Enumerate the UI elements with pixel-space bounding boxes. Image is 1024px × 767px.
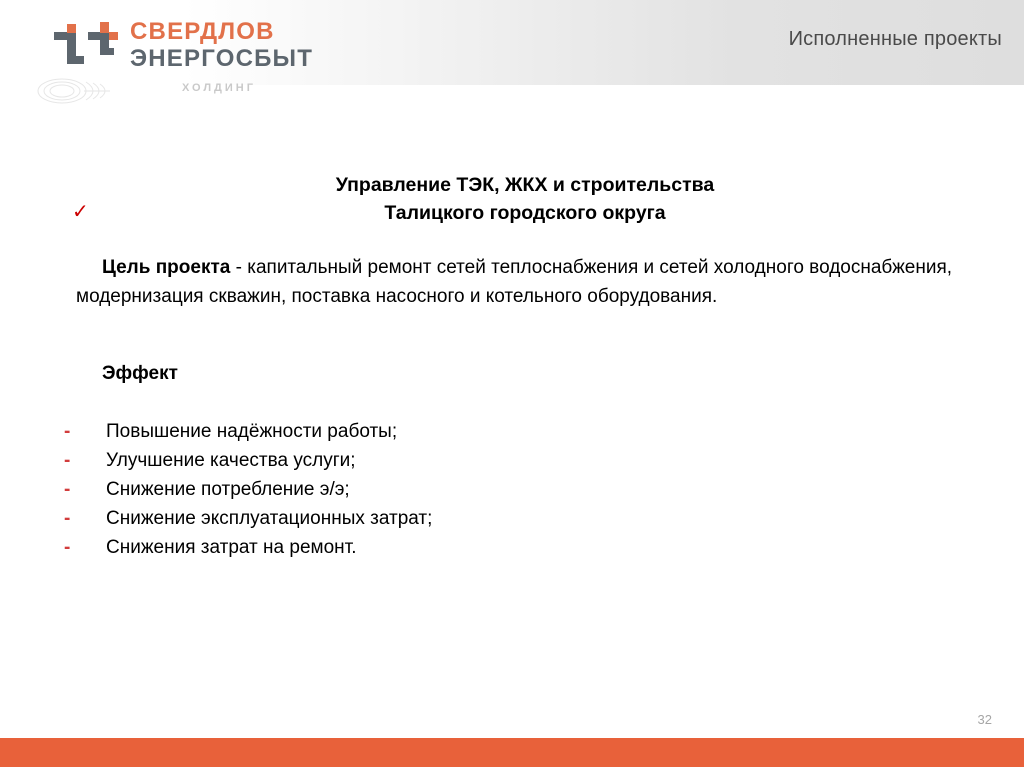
list-item-label: Снижение эксплуатационных затрат; xyxy=(106,508,432,529)
project-goal-label: Цель проекта xyxy=(102,257,230,278)
list-item-label: Снижения затрат на ремонт. xyxy=(106,537,357,558)
faint-watermark-text xyxy=(238,56,308,68)
sverdlov-energosbyt-mark-icon xyxy=(52,20,126,76)
list-dash-icon: - xyxy=(64,505,70,534)
decorative-swirl-icon xyxy=(36,74,122,108)
list-dash-icon: - xyxy=(64,534,70,563)
list-dash-icon: - xyxy=(64,476,70,505)
list-item: - Снижение эксплуатационных затрат; xyxy=(64,505,764,534)
effect-heading: Эффект xyxy=(102,363,178,385)
logo-line-sverdlov: СВЕРДЛОВ xyxy=(130,20,313,44)
list-item-label: Повышение надёжности работы; xyxy=(106,421,397,442)
logo-subtitle-holding: ХОЛДИНГ xyxy=(182,82,256,94)
page-number: 32 xyxy=(978,712,992,727)
company-logo: СВЕРДЛОВ ЭНЕРГОСБЫТ ХОЛДИНГ xyxy=(52,16,352,96)
footer-accent-bar xyxy=(0,738,1024,767)
list-item: - Повышение надёжности работы; xyxy=(64,418,764,447)
page-title: Управление ТЭК, ЖКХ и строительства Тали… xyxy=(0,172,1024,227)
list-item-label: Улучшение качества услуги; xyxy=(106,450,356,471)
page-title-line-1: Управление ТЭК, ЖКХ и строительства xyxy=(26,172,1024,200)
list-item-label: Снижение потребление э/э; xyxy=(106,479,350,500)
list-item: - Улучшение качества услуги; xyxy=(64,447,764,476)
effect-list: - Повышение надёжности работы; - Улучшен… xyxy=(64,418,764,562)
list-dash-icon: - xyxy=(64,447,70,476)
project-goal-paragraph: Цель проекта - капитальный ремонт сетей … xyxy=(76,253,976,312)
page-title-line-2: Талицкого городского округа xyxy=(26,200,1024,228)
list-dash-icon: - xyxy=(64,418,70,447)
slide-header-title: Исполненные проекты xyxy=(789,28,1002,51)
list-item: - Снижения затрат на ремонт. xyxy=(64,534,764,563)
list-item: - Снижение потребление э/э; xyxy=(64,476,764,505)
